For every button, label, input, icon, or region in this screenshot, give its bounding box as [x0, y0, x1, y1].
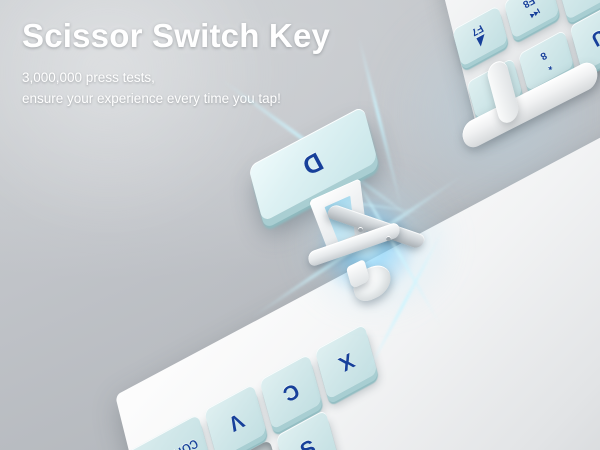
key-8-glyph: * [545, 60, 553, 71]
key-8-label: 8 [538, 49, 548, 61]
scissor-pivot-2 [386, 236, 391, 241]
marketing-copy: Scissor Switch Key 3,000,000 press tests… [22, 18, 330, 110]
page-title: Scissor Switch Key [22, 18, 330, 54]
key-x-label: X [335, 349, 358, 374]
key-v-label: V [224, 409, 247, 434]
key-u-label: U [588, 25, 600, 49]
floating-keycap-label: D [298, 148, 327, 180]
key-f8[interactable]: ⏮ F8 [503, 0, 559, 39]
scissor-switch-mechanism [300, 185, 420, 295]
scissor-post [346, 259, 370, 289]
subtitle-line-1: 3,000,000 press tests, [22, 68, 330, 89]
scissor-pivot-1 [358, 227, 363, 232]
f7-glyph: ◢ [476, 34, 490, 49]
key-s-label: S [296, 435, 319, 450]
subtitle-line-2: ensure your experience every time you ta… [22, 89, 330, 110]
key-c-label: C [279, 379, 303, 405]
product-banner: ◢ F7 ⏮ F8 Y & 7 [0, 0, 600, 450]
